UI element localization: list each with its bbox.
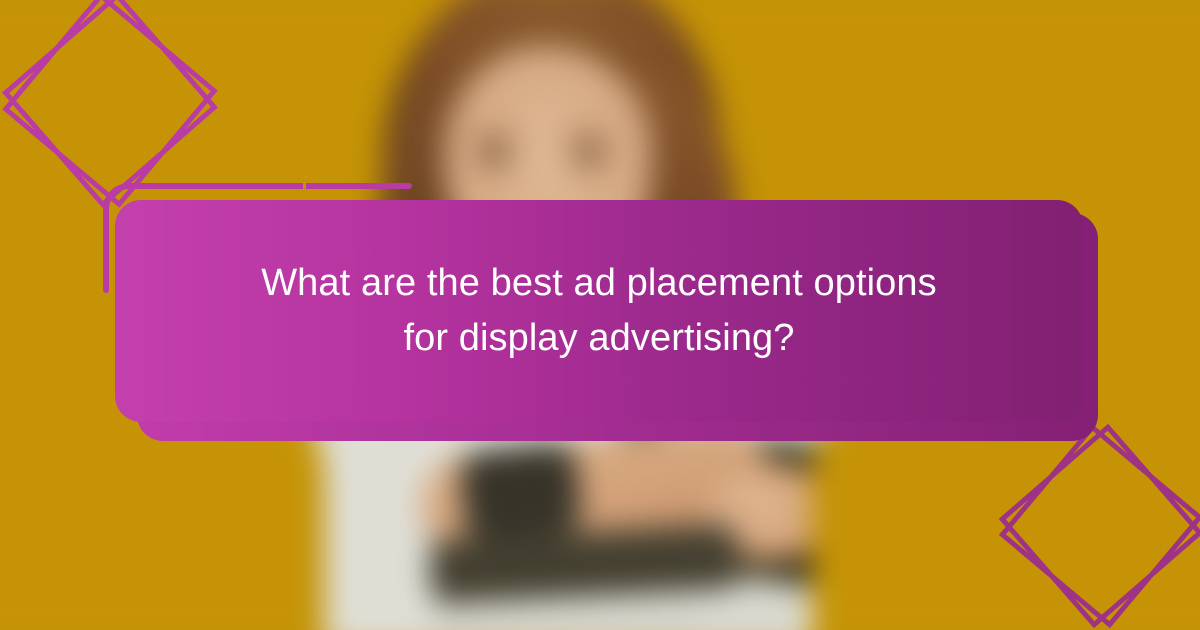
quote-card: What are the best ad placement options f… — [115, 200, 1083, 422]
question-text: What are the best ad placement options f… — [219, 256, 979, 366]
question-line-2: display advertising? — [459, 317, 795, 359]
photo-brow-left — [471, 132, 518, 146]
photo-brow-right — [564, 132, 611, 146]
photo-eye-left — [477, 149, 513, 168]
photo-eye-right — [570, 149, 606, 168]
photo-held-object-small — [458, 442, 583, 543]
social-quote-card-canvas: What are the best ad placement options f… — [0, 0, 1200, 630]
